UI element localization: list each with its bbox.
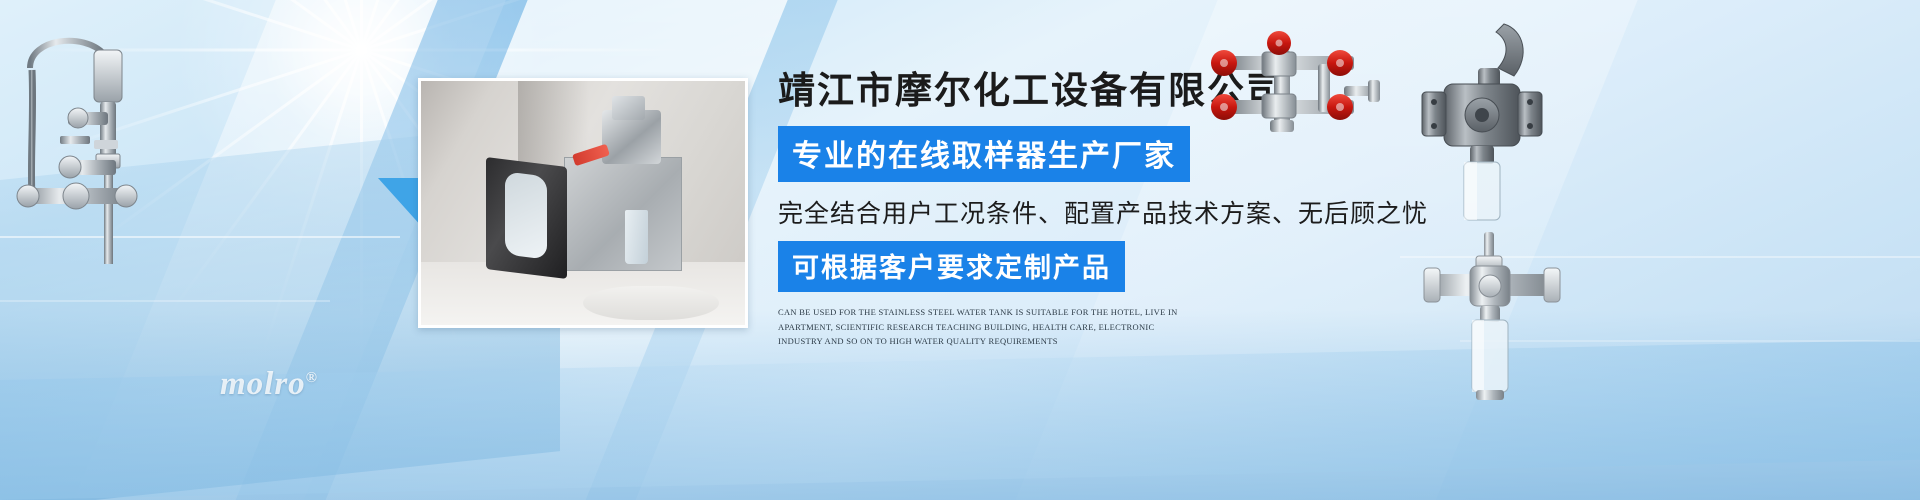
bottom-right-product-image — [1420, 230, 1565, 415]
product-photo — [421, 81, 745, 325]
headline-band: 专业的在线取样器生产厂家 — [778, 126, 1190, 182]
right-product-image — [1418, 20, 1548, 235]
english-description: CAN BE USED FOR THE STAINLESS STEEL WATE… — [778, 305, 1183, 350]
photo-sample-bottle — [625, 210, 648, 264]
subline-text: 完全结合用户工况条件、配置产品技术方案、无后顾之忧 — [778, 194, 1418, 230]
product-photo-frame[interactable] — [418, 78, 748, 328]
registered-mark-icon: ® — [306, 370, 318, 386]
watermark-logo: molro® — [220, 366, 318, 403]
streak-line — [0, 300, 330, 302]
bottom-wave-overlay — [0, 340, 1920, 500]
left-product-image — [8, 20, 173, 280]
watermark-text: molro — [220, 366, 306, 402]
top-right-product-image — [1200, 28, 1385, 148]
promo-banner: 靖江市摩尔化工设备有限公司 专业的在线取样器生产厂家 完全结合用户工况条件、配置… — [0, 0, 1920, 500]
photo-cabinet-body — [564, 157, 683, 271]
custom-product-band: 可根据客户要求定制产品 — [778, 241, 1125, 292]
